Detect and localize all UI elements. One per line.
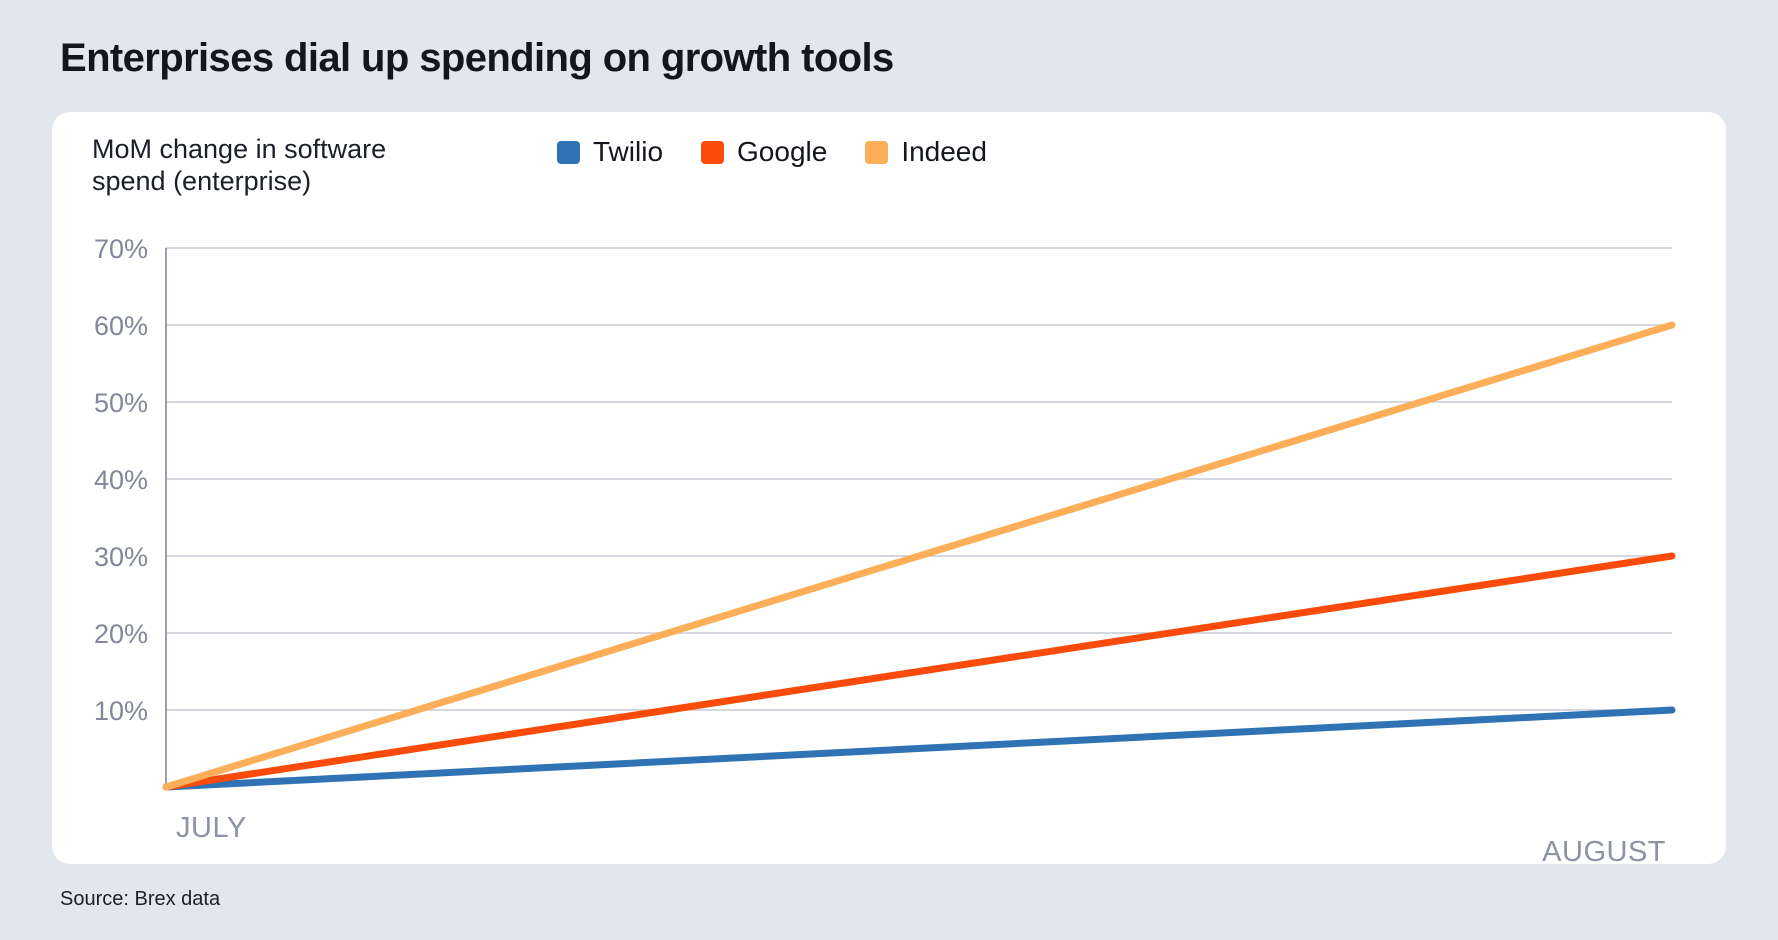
chart-subtitle-line-1: MoM change in software bbox=[92, 134, 386, 164]
chart-page: Enterprises dial up spending on growth t… bbox=[0, 0, 1778, 940]
series-line-google[interactable] bbox=[166, 556, 1672, 787]
y-tick-label: 10% bbox=[94, 696, 148, 726]
chart-legend: Twilio Google Indeed bbox=[557, 136, 987, 168]
chart-x-tick-labels: JULYAUGUST bbox=[176, 812, 1666, 864]
y-tick-label: 50% bbox=[94, 388, 148, 418]
series-line-twilio[interactable] bbox=[166, 710, 1672, 787]
page-title: Enterprises dial up spending on growth t… bbox=[60, 36, 894, 81]
legend-swatch-indeed bbox=[865, 141, 888, 164]
y-tick-label: 70% bbox=[94, 234, 148, 264]
legend-swatch-google bbox=[701, 141, 724, 164]
y-tick-label: 40% bbox=[94, 465, 148, 495]
chart-card: MoM change in software spend (enterprise… bbox=[52, 112, 1726, 864]
chart-subtitle: MoM change in software spend (enterprise… bbox=[92, 134, 472, 198]
chart-subtitle-line-2: spend (enterprise) bbox=[92, 166, 311, 196]
chart-y-tick-labels: 10%20%30%40%50%60%70% bbox=[94, 234, 148, 726]
legend-label-twilio: Twilio bbox=[593, 136, 663, 168]
source-note: Source: Brex data bbox=[60, 888, 220, 911]
legend-swatch-twilio bbox=[557, 141, 580, 164]
legend-item-twilio[interactable]: Twilio bbox=[557, 136, 663, 168]
legend-label-indeed: Indeed bbox=[901, 136, 987, 168]
x-tick-label: JULY bbox=[176, 812, 247, 844]
x-tick-label: AUGUST bbox=[1542, 836, 1666, 864]
chart-gridlines bbox=[166, 248, 1672, 710]
chart-plot-area: 10%20%30%40%50%60%70% JULYAUGUST bbox=[52, 222, 1726, 864]
y-tick-label: 30% bbox=[94, 542, 148, 572]
y-tick-label: 60% bbox=[94, 311, 148, 341]
legend-item-google[interactable]: Google bbox=[701, 136, 827, 168]
legend-item-indeed[interactable]: Indeed bbox=[865, 136, 987, 168]
line-chart-svg: 10%20%30%40%50%60%70% JULYAUGUST bbox=[52, 222, 1726, 864]
legend-label-google: Google bbox=[737, 136, 827, 168]
y-tick-label: 20% bbox=[94, 619, 148, 649]
chart-header: MoM change in software spend (enterprise… bbox=[52, 112, 1726, 222]
